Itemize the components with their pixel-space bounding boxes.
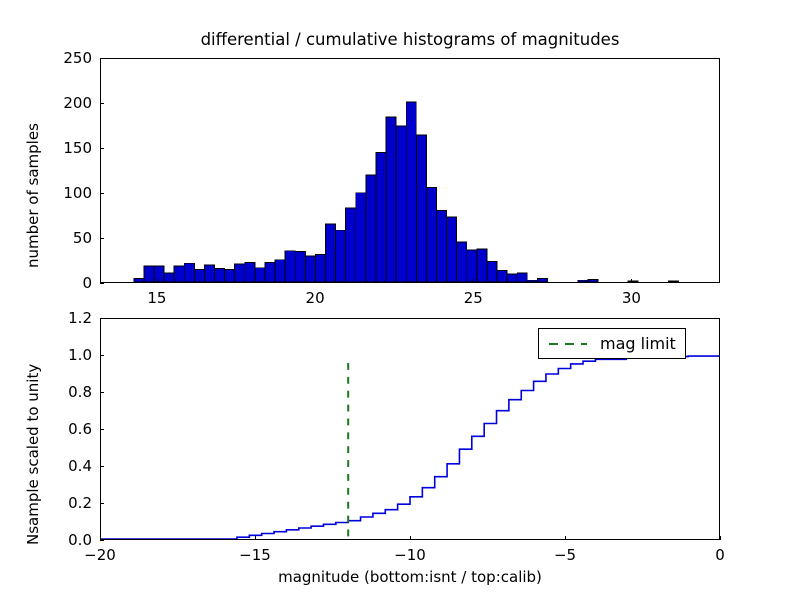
histogram-bar	[578, 280, 588, 282]
page-title: differential / cumulative histograms of …	[100, 30, 720, 49]
bottom-y-axis-title: Nsample scaled to unity	[24, 364, 42, 545]
figure-canvas: differential / cumulative histograms of …	[0, 0, 800, 600]
histogram-bar	[325, 224, 335, 282]
histogram-bar	[154, 266, 164, 282]
bottom-x-tick-mark	[720, 536, 721, 540]
histogram-bar	[588, 279, 598, 282]
bottom-y-tick-mark	[100, 429, 104, 430]
top-y-tick-label: 0	[52, 274, 92, 292]
histogram-bar	[628, 281, 638, 282]
histogram-bar	[204, 265, 214, 282]
bottom-x-tick-mark	[255, 536, 256, 540]
histogram-bar	[426, 187, 436, 282]
histogram-bar	[416, 135, 426, 282]
bottom-y-tick-mark	[100, 318, 104, 319]
histogram-bar	[457, 242, 467, 282]
top-x-tick-mark	[631, 279, 632, 283]
histogram-bar	[285, 251, 295, 282]
histogram-bar	[467, 250, 477, 282]
histogram-bar	[295, 252, 305, 282]
histogram-bar	[174, 266, 184, 282]
top-x-tick-mark	[315, 279, 316, 283]
top-x-tick-label: 15	[147, 289, 166, 307]
top-y-tick-mark	[100, 283, 104, 284]
histogram-bar	[406, 102, 416, 282]
legend-item-label: mag limit	[600, 334, 676, 353]
legend: mag limit	[538, 328, 686, 359]
histogram-bar	[356, 193, 366, 282]
bottom-y-tick-label: 1.0	[48, 346, 92, 364]
top-y-tick-mark	[100, 238, 104, 239]
top-y-tick-label: 100	[52, 184, 92, 202]
histogram-bar	[265, 262, 275, 282]
bottom-x-tick-mark	[410, 536, 411, 540]
bottom-y-tick-mark	[100, 355, 104, 356]
top-y-tick-label: 50	[52, 229, 92, 247]
histogram-bar	[275, 260, 285, 282]
top-subplot-axes	[100, 58, 720, 283]
bottom-x-tick-label: −5	[554, 546, 576, 564]
histogram-bar	[376, 153, 386, 282]
top-x-tick-label: 30	[622, 289, 641, 307]
bottom-y-tick-mark	[100, 466, 104, 467]
top-y-axis-title: number of samples	[24, 123, 42, 268]
histogram-bar	[366, 175, 376, 282]
bottom-y-tick-mark	[100, 503, 104, 504]
histogram-bar	[447, 217, 457, 282]
histogram-bar	[436, 211, 446, 282]
histogram-bar	[315, 254, 325, 282]
differential-histogram-plot	[101, 59, 719, 282]
top-x-tick-label: 20	[306, 289, 325, 307]
top-y-tick-mark	[100, 148, 104, 149]
top-plot-area	[101, 59, 719, 282]
top-y-tick-label: 250	[52, 49, 92, 67]
histogram-bar	[336, 230, 346, 282]
bottom-x-tick-label: 0	[715, 546, 725, 564]
bottom-y-tick-mark	[100, 392, 104, 393]
histogram-bar	[134, 278, 144, 282]
top-y-tick-mark	[100, 58, 104, 59]
top-y-tick-mark	[100, 103, 104, 104]
mag-limit-legend-swatch	[548, 338, 588, 350]
bottom-y-tick-label: 0.2	[48, 494, 92, 512]
histogram-bar	[669, 281, 679, 282]
cumulative-step-curve	[101, 356, 719, 539]
histogram-bar	[527, 280, 537, 282]
bottom-x-tick-label: −20	[84, 546, 116, 564]
top-x-tick-mark	[473, 279, 474, 283]
top-x-tick-label: 25	[464, 289, 483, 307]
histogram-bar	[386, 117, 396, 282]
top-y-tick-label: 150	[52, 139, 92, 157]
bottom-x-tick-label: −15	[239, 546, 271, 564]
bottom-x-axis-title: magnitude (bottom:isnt / top:calib)	[100, 568, 720, 586]
histogram-bar	[517, 273, 527, 282]
histogram-bar	[194, 270, 204, 282]
histogram-bar	[245, 262, 255, 282]
bottom-x-tick-label: −10	[394, 546, 426, 564]
histogram-bar	[487, 261, 497, 282]
histogram-bar	[497, 270, 507, 282]
bottom-y-tick-label: 1.2	[48, 309, 92, 327]
top-y-tick-mark	[100, 193, 104, 194]
histogram-bar	[396, 126, 406, 282]
histogram-bar	[184, 263, 194, 282]
top-x-tick-mark	[157, 279, 158, 283]
bottom-x-tick-mark	[565, 536, 566, 540]
histogram-bar	[507, 274, 517, 282]
histogram-bar	[235, 264, 245, 282]
histogram-bar	[255, 268, 265, 282]
bottom-y-tick-label: 0.8	[48, 383, 92, 401]
bottom-x-tick-mark	[100, 536, 101, 540]
bottom-y-tick-label: 0.6	[48, 420, 92, 438]
histogram-bar	[144, 266, 154, 282]
histogram-bar	[305, 256, 315, 282]
histogram-bar	[225, 270, 235, 282]
histogram-bar	[215, 269, 225, 282]
histogram-bar	[477, 249, 487, 282]
top-y-tick-label: 200	[52, 94, 92, 112]
histogram-bar	[537, 278, 547, 282]
histogram-bar	[346, 208, 356, 282]
histogram-bar	[164, 273, 174, 282]
bottom-y-tick-mark	[100, 540, 104, 541]
bottom-y-tick-label: 0.4	[48, 457, 92, 475]
